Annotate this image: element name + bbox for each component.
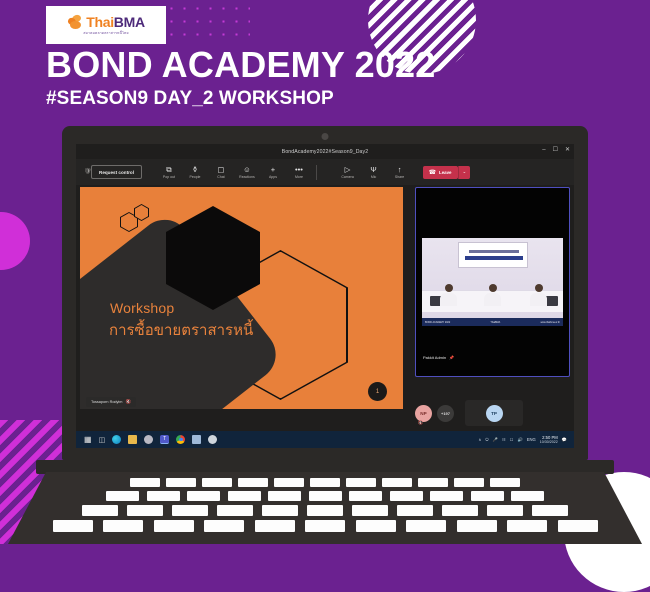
participant-person-1 [440, 284, 457, 306]
toolbar-label-camera: Camera [341, 175, 353, 179]
laptop-keyboard [8, 472, 642, 544]
toolbar-label-chat: Chat [217, 175, 224, 179]
lotus-flower-icon [67, 15, 84, 30]
keyboard-key [352, 505, 388, 516]
system-tray: ∧ ⏻ 🎤 ☷ ☐ 🔊 ENG 2:50 PM 10/30/2022 💬 [478, 435, 570, 445]
logo-text-thai: Thai [86, 14, 114, 30]
keyboard-key [274, 478, 304, 487]
slide-title: Workshop [110, 300, 174, 316]
paint-icon[interactable] [144, 435, 153, 444]
keyboard-key [154, 520, 194, 532]
pin-icon: 📌 [449, 355, 454, 360]
toolbar-label-share: Share [395, 175, 404, 179]
mic-muted-icon: 🔇 [418, 420, 423, 425]
shared-slide[interactable]: Workshop การซื้อขายตราสารหนี้ 1 Tossapor… [80, 187, 403, 409]
toolbar-label-more: More [295, 175, 303, 179]
toolbar-label-apps: Apps [269, 175, 277, 179]
banner-left-text: BOND ACADEMY 2022 [425, 321, 450, 324]
keyboard-key [268, 491, 301, 501]
presenter-name: Tossaporn Rodyim [91, 400, 122, 404]
teams-title-bar: BondAcademy2022#Season9_Day2 – ☐ ✕ [76, 144, 574, 159]
close-button[interactable]: ✕ [565, 147, 570, 153]
video-panel[interactable]: BOND ACADEMY 2022 ThaiBMA www.thaibma.or… [415, 187, 570, 377]
banner-right-text: www.thaibma.or.th [540, 321, 560, 324]
share-screen-icon: ↑ [398, 166, 402, 174]
participant-overflow-count[interactable]: +197 [437, 405, 454, 422]
meeting-stage: Workshop การซื้อขายตราสารหนี้ 1 Tossapor… [76, 185, 574, 431]
tray-chevron-icon[interactable]: ∧ [478, 437, 481, 442]
keyboard-row [8, 478, 642, 487]
keyboard-key [430, 491, 463, 501]
meeting-title: BondAcademy2022#Season9_Day2 [282, 149, 368, 155]
keyboard-key [305, 520, 345, 532]
minimize-button[interactable]: – [542, 147, 545, 153]
keyboard-key [103, 520, 143, 532]
video-participant-name: Pakkit Admin [423, 355, 446, 360]
logo-text-bma: BMA [114, 14, 145, 30]
toolbar-item-mic[interactable]: Ψ Mic [361, 166, 387, 179]
keyboard-key [490, 478, 520, 487]
room-presentation-screen [458, 242, 528, 268]
apps-plus-icon: + [271, 166, 275, 174]
keyboard-key [217, 505, 253, 516]
laptop-hinge [36, 460, 614, 474]
more-ellipsis-icon: ••• [295, 166, 303, 174]
toolbar-item-camera[interactable]: ▷ Camera [335, 166, 361, 179]
avatar-initials-tp: TP [486, 405, 503, 422]
media-controls: ▷ Camera Ψ Mic ↑ Share [335, 166, 413, 179]
keyboard-key [349, 491, 382, 501]
keyboard-key [255, 520, 295, 532]
keyboard-key [309, 491, 342, 501]
toolbar-item-reactions[interactable]: ☺ Reactions [234, 166, 260, 179]
toolbar-label-reactions: Reactions [239, 175, 255, 179]
laptop-screen: BondAcademy2022#Season9_Day2 – ☐ ✕ 🛡 Req… [76, 144, 574, 448]
keyboard-key [390, 491, 423, 501]
generic-app-icon[interactable] [208, 435, 217, 444]
toolbar-item-popout[interactable]: ⧉ Pop out [156, 166, 182, 179]
keyboard-key [106, 491, 139, 501]
excel-icon[interactable] [192, 435, 201, 444]
mic-icon[interactable]: 🎤 [493, 437, 498, 443]
keyboard-key [166, 478, 196, 487]
keyboard-key [238, 478, 268, 487]
keyboard-key [346, 478, 376, 487]
keyboard-key [382, 478, 412, 487]
volume-icon[interactable]: 🔊 [517, 437, 522, 443]
conference-room-video: BOND ACADEMY 2022 ThaiBMA www.thaibma.or… [422, 238, 563, 326]
display-icon[interactable]: ☐ [510, 437, 514, 442]
logo-subtitle: สมาคมตลาดตราสารหนี้ไทย [83, 31, 128, 36]
notification-icon[interactable]: 💬 [562, 437, 567, 443]
page-title: BOND ACADEMY 2022 [46, 46, 436, 84]
banner-center-text: ThaiBMA [490, 321, 500, 324]
toolbar-label-popout: Pop out [163, 175, 175, 179]
toolbar-label-mic: Mic [371, 175, 376, 179]
avatar-initials-np: NP [420, 411, 426, 416]
keyboard-key [487, 505, 523, 516]
network-icon[interactable]: ☷ [502, 437, 506, 442]
clock[interactable]: 2:50 PM 10/30/2022 [540, 435, 558, 445]
camera-off-icon: ▷ [345, 166, 351, 174]
participant-person-3 [530, 284, 547, 306]
laptop-mockup: BondAcademy2022#Season9_Day2 – ☐ ✕ 🛡 Req… [0, 126, 650, 544]
laptop-lid: BondAcademy2022#Season9_Day2 – ☐ ✕ 🛡 Req… [62, 126, 588, 460]
keyboard-key [457, 520, 497, 532]
language-indicator[interactable]: ENG [527, 437, 536, 442]
toolbar-item-apps[interactable]: + Apps [260, 166, 286, 179]
leave-button[interactable]: ☎ Leave [423, 166, 458, 179]
teams-icon[interactable]: T [160, 435, 169, 444]
keyboard-key [397, 505, 433, 516]
toolbar-item-more[interactable]: ••• More [286, 166, 312, 179]
keyboard-key [202, 478, 232, 487]
keyboard-key [262, 505, 298, 516]
toolbar-item-chat[interactable]: ▢ Chat [208, 166, 234, 179]
shield-icon: 🛡 [84, 168, 92, 175]
keyboard-key [130, 478, 160, 487]
clock-date: 10/30/2022 [540, 440, 558, 445]
keyboard-key [356, 520, 396, 532]
toolbar-divider [316, 165, 317, 180]
participant-avatar-np[interactable]: NP 🔇 [415, 405, 432, 422]
keyboard-key [172, 505, 208, 516]
keyboard-key [147, 491, 180, 501]
edge-icon[interactable] [112, 435, 121, 444]
teams-toolbar: 🛡 Request control ⧉ Pop out ⚱ People ▢ C… [76, 159, 574, 185]
keyboard-key [471, 491, 504, 501]
toolbar-actions: ⧉ Pop out ⚱ People ▢ Chat ☺ Reactions [156, 166, 312, 179]
webcam-icon [322, 133, 329, 140]
chat-icon: ▢ [217, 166, 224, 174]
page-subtitle: #SEASON9 DAY_2 WORKSHOP [46, 88, 334, 110]
battery-icon[interactable]: ⏻ [485, 437, 488, 442]
leave-label: Leave [439, 170, 451, 175]
keyboard-key [310, 478, 340, 487]
keyboard-key [406, 520, 446, 532]
slide-subtitle-thai: การซื้อขายตราสารหนี้ [109, 318, 253, 342]
leave-dropdown-button[interactable]: ⌄ [458, 166, 471, 179]
video-participant-label: Pakkit Admin 📌 [423, 355, 454, 360]
pop-out-icon: ⧉ [166, 166, 171, 174]
windows-taskbar: ▦ ◫ T ∧ ⏻ 🎤 ☷ ☐ 🔊 ENG [76, 431, 574, 448]
participant-person-2 [484, 284, 501, 306]
keyboard-key [53, 520, 93, 532]
mic-muted-icon: 🔇 [125, 399, 131, 405]
participant-strip: NP 🔇 +197 TP [415, 399, 570, 427]
keyboard-key [454, 478, 484, 487]
chrome-icon[interactable] [176, 435, 185, 444]
keyboard-row [8, 520, 642, 532]
keyboard-key [228, 491, 261, 501]
windows-logo-icon[interactable]: ▦ [84, 435, 92, 444]
keyboard-key [558, 520, 598, 532]
keyboard-key [307, 505, 343, 516]
dot-grid-decoration [152, 2, 250, 44]
toolbar-item-people[interactable]: ⚱ People [182, 166, 208, 179]
presenter-name-tag: Tossaporn Rodyim 🔇 [86, 397, 136, 407]
keyboard-key [127, 505, 163, 516]
reactions-icon: ☺ [243, 166, 251, 174]
maximize-button[interactable]: ☐ [553, 147, 558, 153]
people-icon: ⚱ [192, 166, 198, 174]
keyboard-key [511, 491, 544, 501]
participant-tile-tp[interactable]: TP [465, 400, 523, 426]
keyboard-key [442, 505, 478, 516]
task-view-icon[interactable]: ◫ [99, 436, 106, 444]
mic-off-icon: Ψ [370, 166, 376, 174]
thaibma-logo: ThaiBMA สมาคมตลาดตราสารหนี้ไทย [46, 6, 166, 44]
room-lower-third-banner: BOND ACADEMY 2022 ThaiBMA www.thaibma.or… [422, 318, 563, 326]
toolbar-label-people: People [190, 175, 201, 179]
slide-page-badge: 1 [368, 382, 387, 401]
keyboard-key [532, 505, 568, 516]
keyboard-key [187, 491, 220, 501]
keyboard-row [8, 491, 642, 501]
request-control-button[interactable]: Request control [91, 165, 142, 179]
keyboard-key [507, 520, 547, 532]
keyboard-key [418, 478, 448, 487]
toolbar-item-share[interactable]: ↑ Share [387, 166, 413, 179]
folder-icon[interactable] [128, 435, 137, 444]
keyboard-row [8, 505, 642, 516]
phone-hangup-icon: ☎ [429, 169, 436, 176]
keyboard-key [204, 520, 244, 532]
keyboard-key [82, 505, 118, 516]
